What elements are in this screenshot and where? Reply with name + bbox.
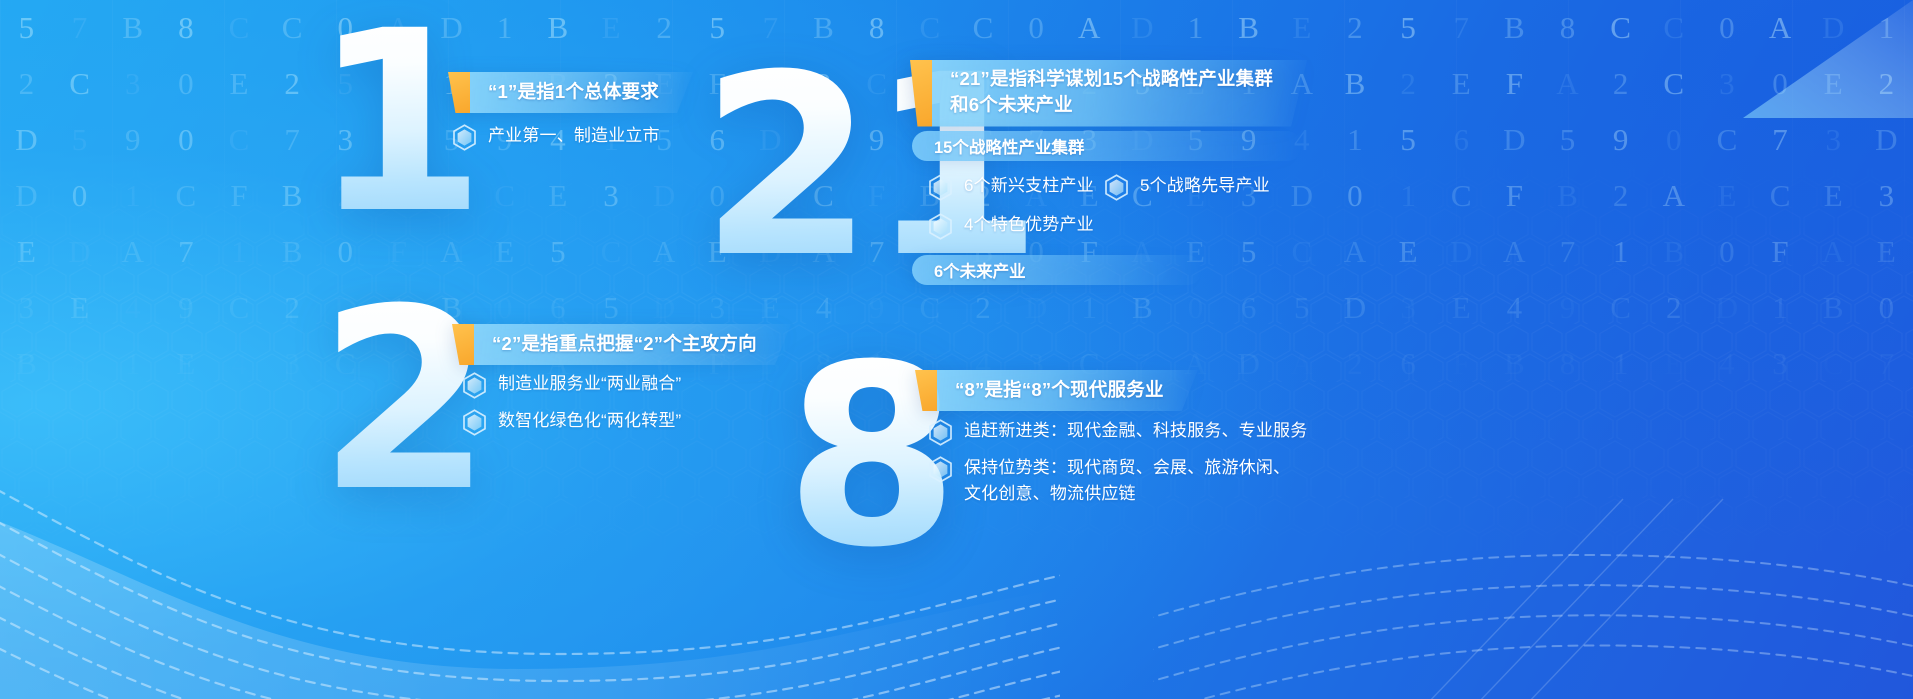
bullet-21-2: 4个特色优势产业 [928, 212, 1094, 240]
code-glyph: C [1594, 10, 1647, 46]
code-glyph: D [0, 178, 53, 214]
wave-decoration-right [1153, 479, 1913, 699]
code-glyph: E [159, 346, 212, 382]
code-glyph: 5 [1647, 402, 1700, 438]
code-glyph: 6 [1435, 122, 1488, 158]
code-glyph: C [159, 178, 212, 214]
code-glyph: 3 [1754, 346, 1807, 382]
headline-bar-21: “21”是指科学谋划15个战略性产业集群 和6个未来产业 [910, 60, 1307, 127]
bullet-1-0: 产业第一、制造业立市 [452, 123, 660, 151]
code-glyph: C [1647, 10, 1700, 46]
code-glyph: 2 [1594, 402, 1647, 438]
bullet-8-0: 追赶新进类：现代金融、科技服务、专业服务 [928, 418, 1307, 446]
code-glyph: C [1435, 178, 1488, 214]
code-glyph: F [213, 178, 266, 214]
code-glyph: 1 [478, 10, 531, 46]
code-glyph: E [585, 10, 638, 46]
code-glyph: B [0, 346, 53, 382]
code-glyph: E [213, 66, 266, 102]
code-glyph: A [1329, 234, 1382, 270]
headline-text-21-line2: 和6个未来产业 [950, 92, 1273, 118]
bullet-21-1: 5个战略先导产业 [1104, 173, 1270, 201]
code-glyph: C [478, 178, 531, 214]
code-glyph: D [0, 402, 53, 438]
hexagon-bullet-icon [928, 456, 953, 483]
code-glyph: B [266, 234, 319, 270]
bullet-2-0: 制造业服务业“两业融合” [462, 371, 681, 399]
bullet-text: 6个新兴支柱产业 [964, 173, 1094, 199]
hexagon-bullet-icon [928, 419, 953, 446]
code-glyph: 7 [159, 234, 212, 270]
code-glyph: 5 [1541, 122, 1594, 158]
code-glyph: 3 [106, 66, 159, 102]
code-glyph: 2 [266, 290, 319, 326]
code-glyph: 3 [1701, 66, 1754, 102]
code-glyph: 1 [1594, 234, 1647, 270]
code-glyph: C [213, 10, 266, 46]
code-glyph: 2 [1329, 10, 1382, 46]
code-glyph: E [159, 402, 212, 438]
code-glyph: B [1647, 234, 1700, 270]
code-glyph: B [266, 178, 319, 214]
code-glyph: 2 [1382, 66, 1435, 102]
code-glyph: 0 [1329, 178, 1382, 214]
hexagon-bullet-icon [462, 409, 487, 436]
code-glyph: D [53, 234, 106, 270]
bullet-text: 5个战略先导产业 [1140, 173, 1270, 199]
code-glyph: E [0, 234, 53, 270]
code-glyph: B [1116, 290, 1169, 326]
code-glyph: B [1488, 346, 1541, 382]
headline-text-21-line1: “21”是指科学谋划15个战略性产业集群 [950, 66, 1273, 92]
orange-triangle-icon [910, 60, 932, 127]
code-glyph: 1 [106, 178, 159, 214]
corner-chevron-icon [1703, 0, 1913, 118]
code-glyph: 0 [1647, 122, 1700, 158]
code-glyph: E [1701, 178, 1754, 214]
code-glyph: 1 [1754, 290, 1807, 326]
code-glyph: C [1647, 66, 1700, 102]
code-glyph: 7 [1541, 234, 1594, 270]
code-glyph: 6 [1382, 346, 1435, 382]
code-glyph: 4 [1488, 290, 1541, 326]
code-glyph: D [1116, 10, 1169, 46]
code-glyph: 1 [1063, 290, 1116, 326]
code-glyph: D [1382, 402, 1435, 438]
code-glyph: 9 [106, 122, 159, 158]
code-glyph: 9 [159, 290, 212, 326]
code-glyph: 5 [1382, 122, 1435, 158]
code-glyph: 4 [213, 346, 266, 382]
code-glyph: 3 [1860, 178, 1913, 214]
code-glyph: E [1647, 346, 1700, 382]
code-glyph: 0 [1860, 290, 1913, 326]
code-glyph: A [1754, 10, 1807, 46]
code-glyph: E [1435, 290, 1488, 326]
code-glyph: 2 [1594, 66, 1647, 102]
code-glyph: E [1541, 402, 1594, 438]
code-glyph: C [1275, 234, 1328, 270]
bullet-text: 数智化绿色化“两化转型” [498, 408, 681, 434]
code-glyph: 7 [1701, 402, 1754, 438]
hexagon-bullet-icon [928, 174, 953, 201]
code-glyph: 1 [1329, 122, 1382, 158]
bullet-text: 追赶新进类：现代金融、科技服务、专业服务 [964, 418, 1307, 444]
code-glyph: D [1488, 122, 1541, 158]
code-glyph: C [1860, 402, 1913, 438]
code-glyph: B [1488, 402, 1541, 438]
code-glyph: E [1275, 10, 1328, 46]
code-glyph: 1 [1435, 402, 1488, 438]
code-glyph: 6 [531, 290, 584, 326]
code-glyph: 5 [585, 290, 638, 326]
code-glyph: B [1222, 10, 1275, 46]
code-glyph: 7 [1860, 346, 1913, 382]
code-glyph: B [531, 10, 584, 46]
code-glyph: B [1541, 178, 1594, 214]
code-glyph: 8 [159, 10, 212, 46]
code-glyph: B [1807, 290, 1860, 326]
code-glyph: C [213, 290, 266, 326]
hexagon-bullet-icon [452, 124, 477, 151]
code-glyph: D [1807, 10, 1860, 46]
code-glyph: E [53, 290, 106, 326]
code-glyph: 0 [1701, 10, 1754, 46]
code-glyph: 0 [1169, 290, 1222, 326]
code-glyph: E [1807, 178, 1860, 214]
code-glyph: B [1329, 66, 1382, 102]
bullet-text: 4个特色优势产业 [964, 212, 1094, 238]
code-glyph: A [1541, 66, 1594, 102]
code-glyph: 0 [53, 178, 106, 214]
headline-plate: “2”是指重点把握“2”个主攻方向 [474, 324, 791, 365]
code-glyph: 4 [106, 290, 159, 326]
code-glyph: 5 [1382, 10, 1435, 46]
code-glyph: 8 [1541, 346, 1594, 382]
code-glyph: E [1860, 234, 1913, 270]
headline-text-2: “2”是指重点把握“2”个主攻方向 [492, 331, 757, 357]
bullet-8-1: 保持位势类：现代商贸、会展、旅游休闲、 文化创意、物流供应链 [928, 455, 1290, 507]
headline-bar-1: “1”是指1个总体要求 [448, 72, 693, 113]
code-glyph: 1 [1382, 178, 1435, 214]
code-glyph: D [0, 122, 53, 158]
headline-bar-2: “2”是指重点把握“2”个主攻方向 [452, 324, 791, 365]
code-glyph: 7 [266, 122, 319, 158]
code-glyph: D [1222, 346, 1275, 382]
code-glyph: E [1807, 66, 1860, 102]
code-glyph: D [638, 290, 691, 326]
pill-label: 6个未来产业 [934, 258, 1026, 282]
code-glyph: F [1488, 66, 1541, 102]
headline-plate: “8”是指“8”个现代服务业 [937, 370, 1198, 411]
code-glyph: 5 [266, 402, 319, 438]
code-glyph: 1 [53, 402, 106, 438]
code-glyph: 1 [1594, 346, 1647, 382]
code-glyph: C [53, 66, 106, 102]
hexagon-bullet-icon [462, 372, 487, 399]
code-glyph: 6 [1222, 290, 1275, 326]
code-glyph: E [531, 178, 584, 214]
code-glyph: 5 [53, 122, 106, 158]
code-glyph: 2 [1329, 346, 1382, 382]
headline-plate: “1”是指1个总体要求 [470, 72, 693, 113]
pill-15-clusters: 15个战略性产业集群 [912, 131, 1302, 161]
code-glyph: F [1488, 178, 1541, 214]
code-glyph: 8 [53, 346, 106, 382]
code-glyph: A [1275, 346, 1328, 382]
code-glyph: 0 [159, 122, 212, 158]
bullet-text: 制造业服务业“两业融合” [498, 371, 681, 397]
code-glyph: 3 [0, 290, 53, 326]
bullet-21-0: 6个新兴支柱产业 [928, 173, 1094, 201]
code-glyph: 3 [266, 346, 319, 382]
pill-label: 15个战略性产业集群 [934, 134, 1084, 158]
code-glyph: D [1701, 290, 1754, 326]
code-glyph: C [1701, 122, 1754, 158]
code-glyph: 2 [638, 10, 691, 46]
headline-bar-8: “8”是指“8”个现代服务业 [915, 370, 1198, 411]
code-glyph: E [1382, 234, 1435, 270]
code-glyph: 2 [1860, 66, 1913, 102]
headline-text-1: “1”是指1个总体要求 [488, 79, 659, 105]
bullet-text: 产业第一、制造业立市 [488, 123, 660, 149]
bullet-2-1: 数智化绿色化“两化转型” [462, 408, 681, 436]
code-glyph: E [1435, 66, 1488, 102]
code-glyph: D [638, 178, 691, 214]
code-glyph: 7 [53, 10, 106, 46]
code-glyph: F [1754, 234, 1807, 270]
code-glyph: A [1063, 10, 1116, 46]
code-glyph: A [106, 234, 159, 270]
code-glyph: 8 [1541, 10, 1594, 46]
code-glyph: 7 [1754, 122, 1807, 158]
code-glyph: 7 [1435, 10, 1488, 46]
code-glyph: 2 [1594, 178, 1647, 214]
code-glyph: A [1488, 234, 1541, 270]
code-glyph: A [1329, 402, 1382, 438]
orange-triangle-icon [452, 324, 474, 365]
code-glyph: 5 [531, 234, 584, 270]
code-glyph: 5 [0, 10, 53, 46]
code-glyph: 9 [1594, 122, 1647, 158]
hexagon-bullet-icon [1104, 174, 1129, 201]
code-glyph: A [638, 234, 691, 270]
code-glyph: C [1807, 346, 1860, 382]
code-glyph: B [106, 10, 159, 46]
headline-text-8: “8”是指“8”个现代服务业 [955, 377, 1164, 403]
code-glyph: B [1754, 402, 1807, 438]
code-glyph: 2 [1647, 290, 1700, 326]
code-glyph: 1 [106, 346, 159, 382]
code-glyph: D [1860, 122, 1913, 158]
code-glyph: 2 [213, 402, 266, 438]
code-glyph: B [106, 402, 159, 438]
code-glyph: 5 [1275, 290, 1328, 326]
code-glyph: C [266, 10, 319, 46]
code-glyph: 0 [1754, 66, 1807, 102]
code-glyph: 5 [1222, 234, 1275, 270]
code-glyph: 8 [1807, 402, 1860, 438]
hexagon-bullet-icon [928, 213, 953, 240]
code-glyph: C [585, 234, 638, 270]
code-glyph: 3 [585, 178, 638, 214]
code-glyph: 1 [1860, 10, 1913, 46]
code-glyph: C [1754, 178, 1807, 214]
poster-canvas: 57B8CC0AD1BE257B8CC0AD1BE257B8CC0AD12C30… [0, 0, 1913, 699]
code-glyph: F [1435, 346, 1488, 382]
code-glyph: C [213, 122, 266, 158]
orange-triangle-icon [448, 72, 470, 113]
code-glyph: C [1594, 290, 1647, 326]
code-glyph: 3 [1807, 122, 1860, 158]
code-glyph: D [1275, 178, 1328, 214]
code-glyph: 9 [1541, 290, 1594, 326]
code-glyph: 0 [159, 66, 212, 102]
code-glyph: 1 [213, 234, 266, 270]
code-glyph: A [1807, 234, 1860, 270]
code-glyph: A [1647, 178, 1700, 214]
code-glyph: D [1329, 290, 1382, 326]
code-glyph: 2 [266, 66, 319, 102]
code-glyph: 2 [0, 66, 53, 102]
code-glyph: D [1435, 234, 1488, 270]
code-glyph: 1 [1169, 10, 1222, 46]
headline-plate: “21”是指科学谋划15个战略性产业集群 和6个未来产业 [932, 60, 1307, 127]
code-glyph: B [1488, 10, 1541, 46]
code-glyph: 3 [1382, 290, 1435, 326]
bullet-text: 保持位势类：现代商贸、会展、旅游休闲、 文化创意、物流供应链 [964, 455, 1290, 507]
pill-6-future-industries: 6个未来产业 [912, 255, 1202, 285]
code-glyph: D [691, 402, 744, 438]
code-glyph: 4 [1701, 346, 1754, 382]
orange-triangle-icon [915, 370, 937, 411]
code-glyph: 0 [1701, 234, 1754, 270]
